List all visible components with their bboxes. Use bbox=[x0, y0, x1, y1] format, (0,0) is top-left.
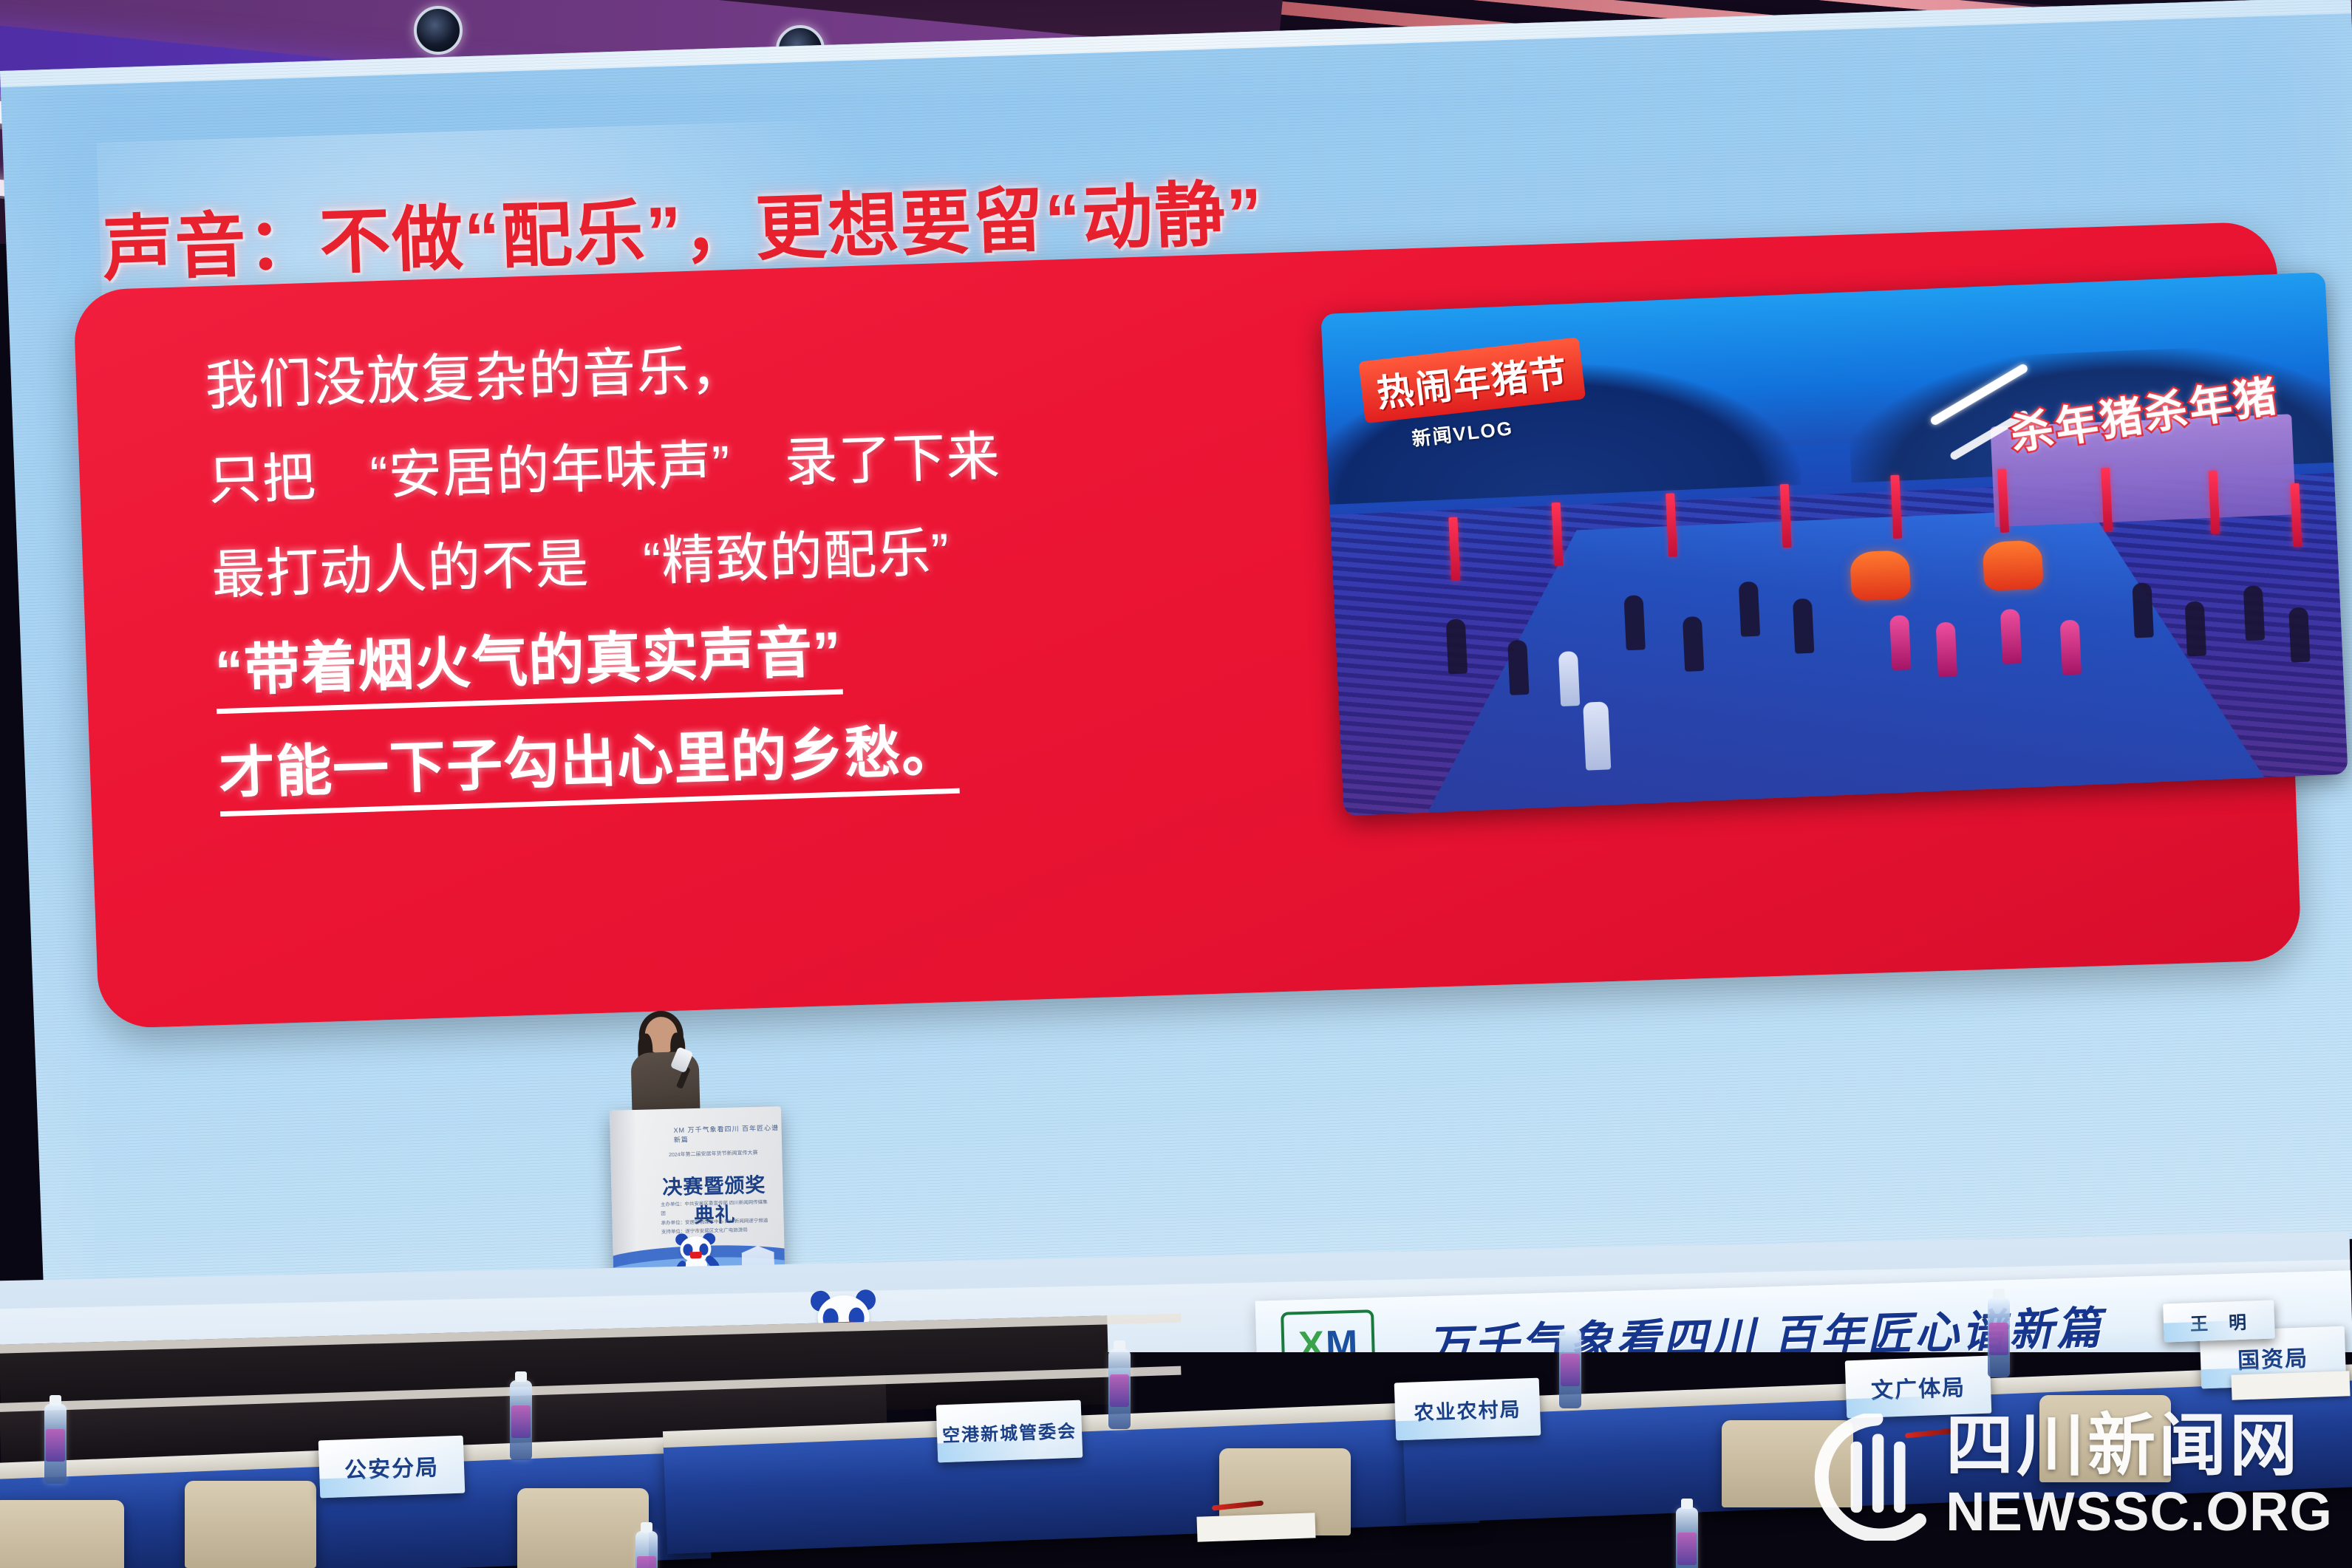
screenshot-root: 声音：不做“配乐”，更想要留“动静” 我们没放复杂的音乐， 只把 “安居的年味声… bbox=[0, 0, 2352, 1568]
table-nameplate: 空港新城管委会 bbox=[936, 1400, 1083, 1463]
nameplate-label: 农业农村局 bbox=[1414, 1393, 1521, 1425]
nameplate-label: 公安分局 bbox=[344, 1449, 439, 1485]
water-bottle bbox=[1676, 1507, 1698, 1568]
audience-chair bbox=[0, 1500, 124, 1568]
water-bottle bbox=[635, 1531, 658, 1568]
document-paper bbox=[1196, 1513, 1315, 1542]
body-line: 我们没放复杂的音乐， bbox=[204, 325, 1314, 413]
watermark-text: 四川新闻网 NEWSSC.ORG bbox=[1946, 1412, 2333, 1543]
guest-name-label: 王 明 bbox=[2189, 1307, 2248, 1335]
slide-red-panel: 我们没放复杂的音乐， 只把 “安居的年味声” 录了下来 最打动人的不是 “精致的… bbox=[73, 221, 2302, 1029]
slide-body-text: 我们没放复杂的音乐， 只把 “安居的年味声” 录了下来 最打动人的不是 “精致的… bbox=[204, 325, 1329, 849]
water-bottle bbox=[1108, 1349, 1131, 1429]
body-line: 最打动人的不是 “精致的配乐” bbox=[211, 514, 1320, 602]
table-nameplate: 公安分局 bbox=[318, 1436, 466, 1499]
water-bottle bbox=[510, 1380, 532, 1460]
audience-chair bbox=[185, 1481, 316, 1568]
video-thumbnail: 热闹年猪节 新闻VLOG 杀年猪杀年猪 bbox=[1320, 272, 2348, 816]
nameplate-label: 国资局 bbox=[2237, 1340, 2308, 1374]
body-line: 只把 “安居的年味声” 录了下来 bbox=[208, 420, 1318, 508]
water-bottle bbox=[44, 1404, 67, 1484]
led-screen: 声音：不做“配乐”，更想要留“动静” 我们没放复杂的音乐， 只把 “安居的年味声… bbox=[0, 0, 2352, 1312]
podium-logo-text: XM 万千气象看四川 百年匠心谱新篇 bbox=[673, 1122, 782, 1145]
nameplate-label: 空港新城管委会 bbox=[941, 1416, 1077, 1446]
watermark: 四川新闻网 NEWSSC.ORG bbox=[1813, 1412, 2333, 1543]
table-nameplate: 农业农村局 bbox=[1394, 1378, 1541, 1441]
audience-chair bbox=[517, 1488, 649, 1568]
lion-dance-icon bbox=[1983, 540, 2044, 591]
spotlight-icon bbox=[414, 6, 463, 55]
podium-small-line: 2024年第二届安居年货节新闻宣传大赛 bbox=[658, 1150, 768, 1160]
watermark-english: NEWSSC.ORG bbox=[1946, 1480, 2333, 1543]
lion-dance-icon bbox=[1850, 550, 1911, 601]
watermark-chinese: 四川新闻网 bbox=[1946, 1412, 2333, 1480]
body-line-emphasis: “带着烟火气的真实声音” bbox=[214, 624, 843, 715]
podium-detail-line: 主办单位：中共安居区委宣传部 四川新闻网传媒集团 bbox=[661, 1199, 772, 1219]
nameplate-label: 文广体局 bbox=[1870, 1369, 1966, 1405]
sichuan-news-logo-icon bbox=[1813, 1414, 1940, 1541]
guest-name-card: 王 明 bbox=[2163, 1300, 2275, 1342]
water-bottle bbox=[1559, 1329, 1581, 1408]
water-bottle bbox=[1988, 1298, 2010, 1377]
document-paper bbox=[2231, 1371, 2350, 1400]
